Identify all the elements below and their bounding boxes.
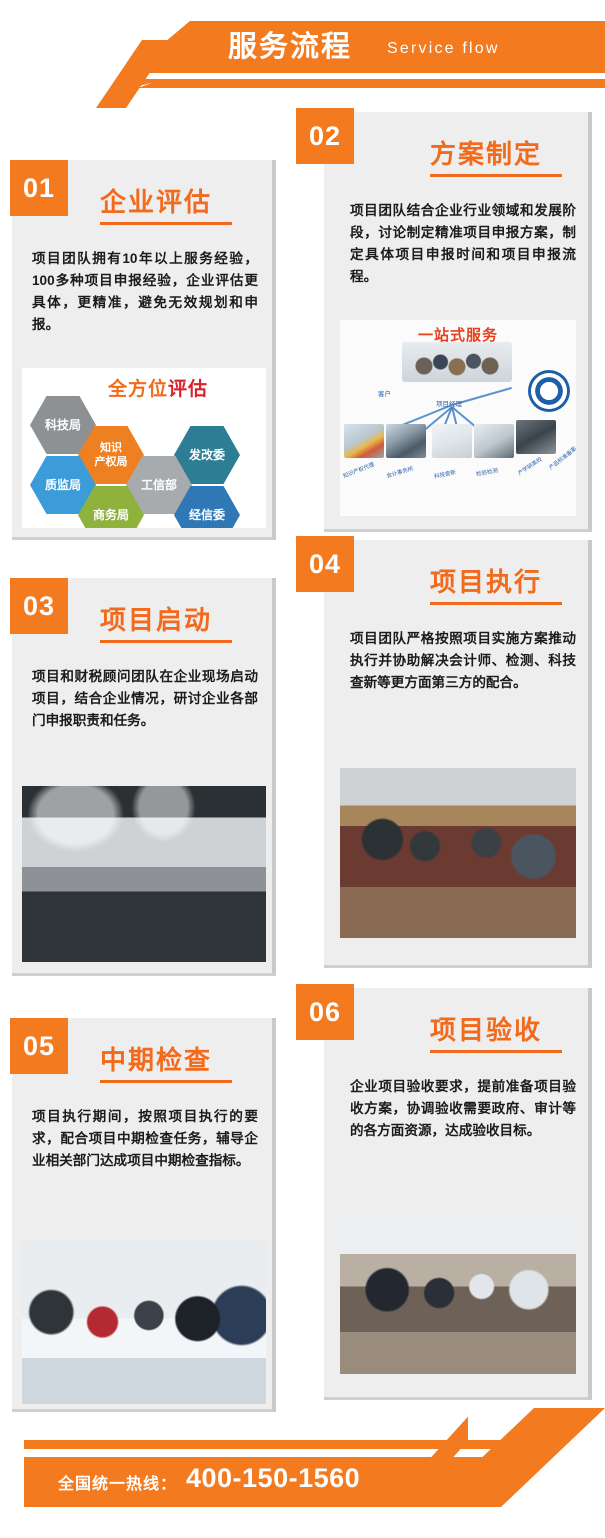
card-title-1: 企业评估 bbox=[100, 182, 212, 219]
card-body-6: 企业项目验收要求，提前准备项目验收方案，协调验收需要政府、审计等的各方面资源，达… bbox=[350, 1076, 576, 1142]
card-title-rule-2 bbox=[430, 174, 562, 177]
acceptance-meeting-photo bbox=[340, 1212, 576, 1374]
hotline-number[interactable]: 400-150-1560 bbox=[186, 1463, 360, 1494]
site-visit-photo bbox=[22, 1240, 266, 1404]
card-badge-1: 01 bbox=[10, 160, 68, 216]
process-card-6: 项目验收 企业项目验收要求，提前准备项目验收方案，协调验收需要政府、审计等的各方… bbox=[324, 988, 592, 1400]
service-thumb-5 bbox=[516, 420, 556, 454]
card-badge-6: 06 bbox=[296, 984, 354, 1040]
card-title-rule-6 bbox=[430, 1050, 562, 1053]
card-title-6: 项目验收 bbox=[430, 1010, 542, 1047]
page-title: 服务流程 bbox=[228, 26, 352, 68]
hexagon-assessment-diagram: 全方位评估 科技局 知识产权局 发改委 质监局 工信部 经信委 商务局 bbox=[22, 368, 266, 528]
page-footer: 全国统一热线： 400-150-1560 bbox=[0, 1440, 605, 1538]
service-label-5: 产学研高校 bbox=[516, 455, 543, 477]
process-card-1: 企业评估 项目团队拥有10年以上服务经验，100多种项目申报经验，企业评估更具体… bbox=[12, 160, 276, 540]
header-bar bbox=[130, 21, 605, 73]
hexagon-nodes: 科技局 知识产权局 发改委 质监局 工信部 经信委 商务局 bbox=[22, 368, 266, 528]
card-title-rule-3 bbox=[100, 640, 232, 643]
service-label-1: 知识产权代理 bbox=[342, 460, 376, 480]
card-body-4: 项目团队严格按照项目实施方案推动执行并协助解决会计师、检测、科技查新等更方面第三… bbox=[350, 628, 576, 694]
service-label-2: 会计事务所 bbox=[385, 464, 414, 479]
service-thumb-4 bbox=[474, 424, 514, 458]
card-title-rule-1 bbox=[100, 222, 232, 225]
card-title-rule-5 bbox=[100, 1080, 232, 1083]
card-badge-4: 04 bbox=[296, 536, 354, 592]
one-stop-service-diagram: 一站式服务 客户 项目经理 知识产权代理 会计事务所 科技查新 检验检测 产学研… bbox=[340, 320, 576, 516]
card-body-2: 项目团队结合企业行业领域和发展阶段，讨论制定精准项目申报方案，制定具体项目申报时… bbox=[350, 200, 576, 288]
service-thumb-1 bbox=[344, 424, 384, 458]
process-card-3: 项目启动 项目和财税顾问团队在企业现场启动项目，结合企业情况，研讨企业各部门申报… bbox=[12, 578, 276, 976]
conference-room-photo bbox=[22, 786, 266, 962]
service-iso-seal bbox=[528, 370, 570, 412]
service-thumb-2 bbox=[386, 424, 426, 458]
meeting-table-photo bbox=[340, 768, 576, 938]
footer-topline bbox=[24, 1440, 550, 1449]
service-thumb-3 bbox=[432, 424, 472, 458]
service-label-3: 科技查新 bbox=[433, 468, 456, 480]
card-badge-3: 03 bbox=[10, 578, 68, 634]
page-header: 服务流程 Service flow bbox=[0, 0, 605, 108]
service-label-4: 检验检测 bbox=[475, 466, 498, 478]
service-arrow-1 bbox=[452, 387, 512, 406]
card-body-5: 项目执行期间，按照项目执行的要求，配合项目中期检查任务，辅导企业相关部门达成项目… bbox=[32, 1106, 258, 1172]
process-card-5: 中期检查 项目执行期间，按照项目执行的要求，配合项目中期检查任务，辅导企业相关部… bbox=[12, 1018, 276, 1412]
page-subtitle: Service flow bbox=[387, 38, 500, 60]
card-badge-5: 05 bbox=[10, 1018, 68, 1074]
hotline-label: 全国统一热线： bbox=[58, 1470, 177, 1494]
card-body-3: 项目和财税顾问团队在企业现场启动项目，结合企业情况，研讨企业各部门申报职责和任务… bbox=[32, 666, 258, 732]
header-underline bbox=[138, 79, 605, 88]
service-hero-photo bbox=[402, 342, 512, 382]
card-title-5: 中期检查 bbox=[100, 1040, 212, 1077]
service-node-customer: 客户 bbox=[378, 388, 391, 398]
card-badge-2: 02 bbox=[296, 108, 354, 164]
card-title-4: 项目执行 bbox=[430, 562, 542, 599]
card-title-2: 方案制定 bbox=[430, 134, 542, 171]
card-body-1: 项目团队拥有10年以上服务经验，100多种项目申报经验，企业评估更具体，更精准，… bbox=[32, 248, 258, 336]
card-title-3: 项目启动 bbox=[100, 600, 212, 637]
process-card-4: 项目执行 项目团队严格按照项目实施方案推动执行并协助解决会计师、检测、科技查新等… bbox=[324, 540, 592, 968]
process-card-2: 方案制定 项目团队结合企业行业领域和发展阶段，讨论制定精准项目申报方案，制定具体… bbox=[324, 112, 592, 532]
card-title-rule-4 bbox=[430, 602, 562, 605]
